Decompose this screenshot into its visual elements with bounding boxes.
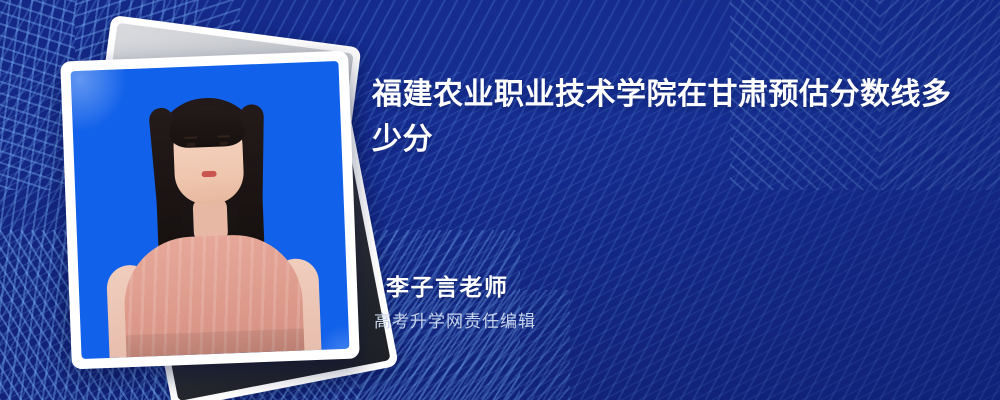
author-photo-card: [60, 51, 360, 370]
author-photo: [71, 61, 350, 359]
page-title: 福建农业职业技术学院在甘肃预估分数线多少分: [372, 72, 976, 162]
portrait-lips: [201, 171, 216, 178]
author-name: 李子言老师: [386, 272, 536, 302]
article-banner: 福建农业职业技术学院在甘肃预估分数线多少分 李子言老师 高考升学网责任编辑: [0, 0, 1000, 400]
author-byline: 李子言老师 高考升学网责任编辑: [386, 272, 536, 334]
author-portrait-figure: [71, 61, 350, 359]
banner-text-block: 福建农业职业技术学院在甘肃预估分数线多少分 李子言老师 高考升学网责任编辑: [372, 0, 976, 400]
portrait-hair-fringe: [168, 106, 245, 149]
photo-card-stack: [48, 28, 348, 368]
author-role: 高考升学网责任编辑: [374, 310, 536, 334]
